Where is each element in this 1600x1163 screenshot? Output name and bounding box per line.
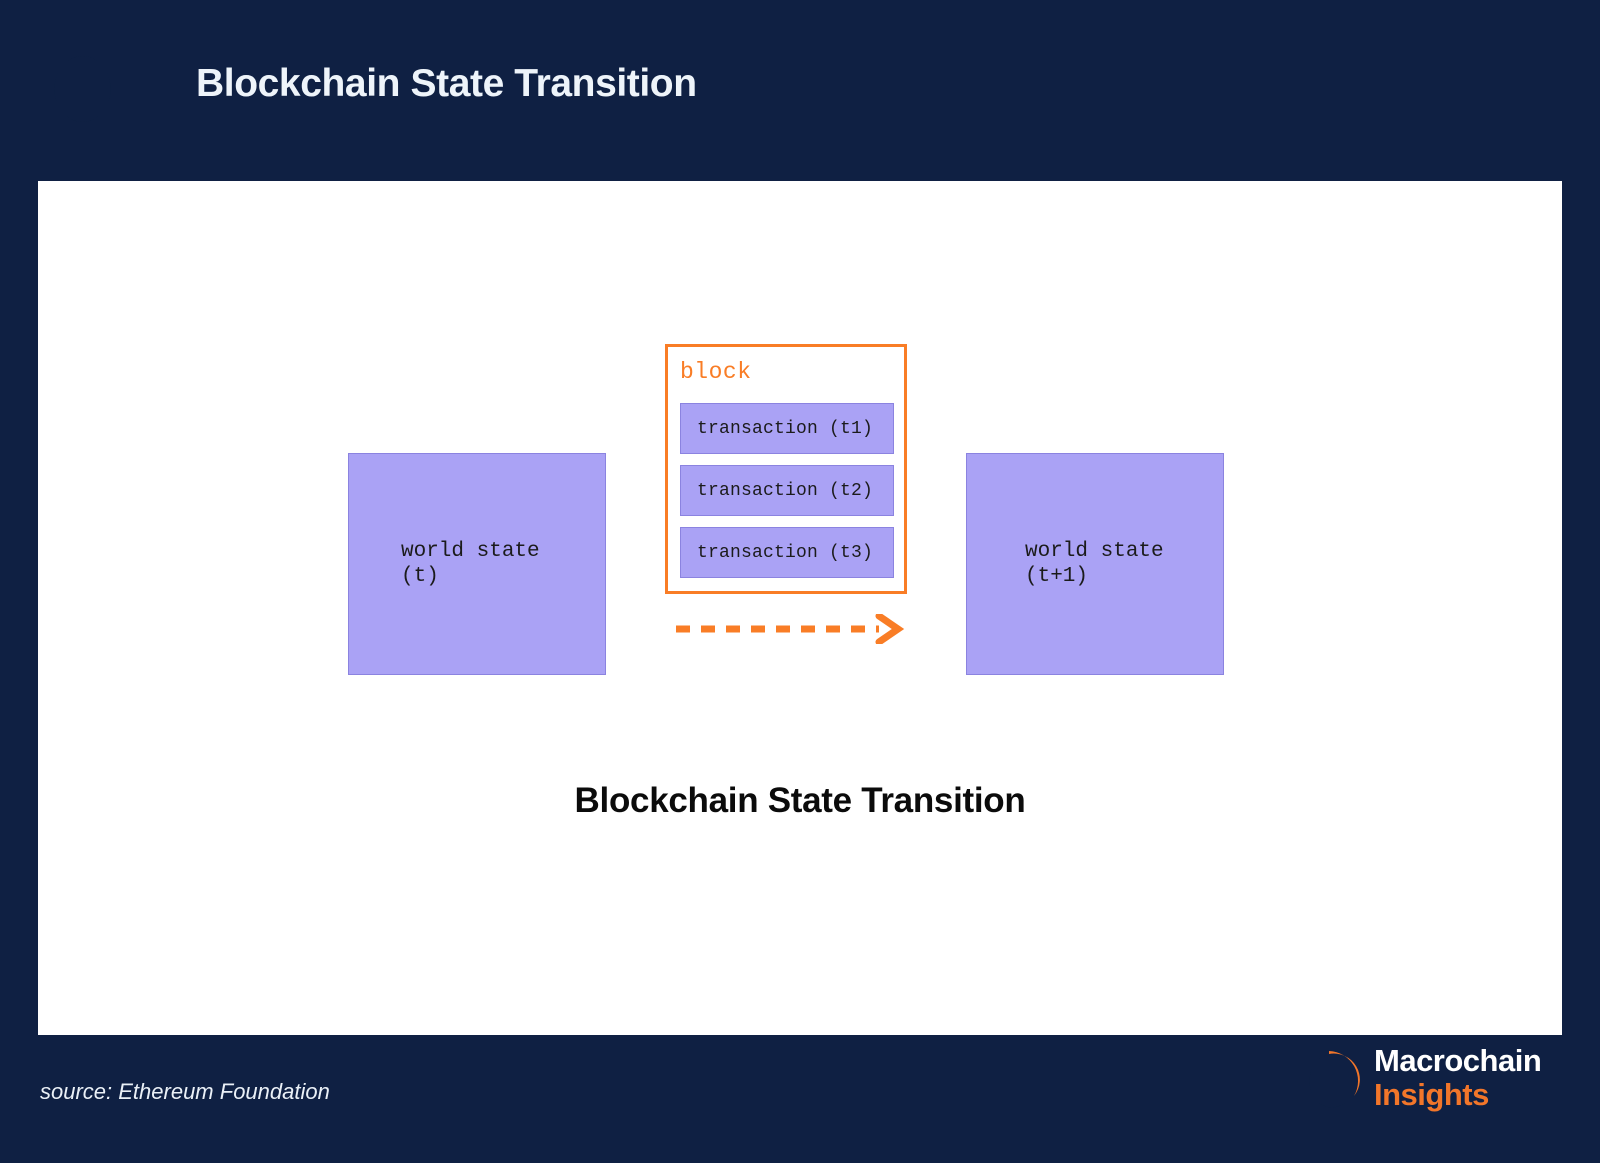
transaction-item: transaction (t1) bbox=[680, 403, 894, 454]
block-label: block bbox=[680, 359, 752, 385]
crescent-ring-icon bbox=[38, 48, 120, 130]
source-note: source: Ethereum Foundation bbox=[40, 1079, 330, 1105]
page-title: Blockchain State Transition bbox=[196, 62, 697, 106]
state-transition-diagram: world state (t) block transaction (t1) t… bbox=[38, 181, 1562, 1035]
crescent-ring-icon bbox=[1296, 1048, 1362, 1114]
world-state-t-box: world state (t) bbox=[348, 453, 606, 675]
transaction-item: transaction (t3) bbox=[680, 527, 894, 578]
world-state-t-line1: world state bbox=[401, 539, 605, 564]
transaction-list: transaction (t1) transaction (t2) transa… bbox=[680, 403, 894, 578]
content-panel: world state (t) block transaction (t1) t… bbox=[38, 181, 1562, 1035]
diagram-caption: Blockchain State Transition bbox=[38, 781, 1562, 821]
world-state-t1-line2: (t+1) bbox=[1025, 564, 1223, 589]
page-header: Blockchain State Transition bbox=[0, 0, 1600, 181]
brand-name-secondary: Insights bbox=[1374, 1078, 1541, 1112]
world-state-t1-box: world state (t+1) bbox=[966, 453, 1224, 675]
world-state-t1-line1: world state bbox=[1025, 539, 1223, 564]
world-state-t-line2: (t) bbox=[401, 564, 605, 589]
footer-wordmark: Macrochain Insights bbox=[1374, 1044, 1541, 1112]
footer-brand-logo: Macrochain Insights bbox=[1296, 1044, 1566, 1120]
transaction-item: transaction (t2) bbox=[680, 465, 894, 516]
dashed-arrow-right-icon bbox=[674, 614, 906, 644]
block-container: block transaction (t1) transaction (t2) … bbox=[665, 344, 907, 594]
brand-name-primary: Macrochain bbox=[1374, 1044, 1541, 1078]
